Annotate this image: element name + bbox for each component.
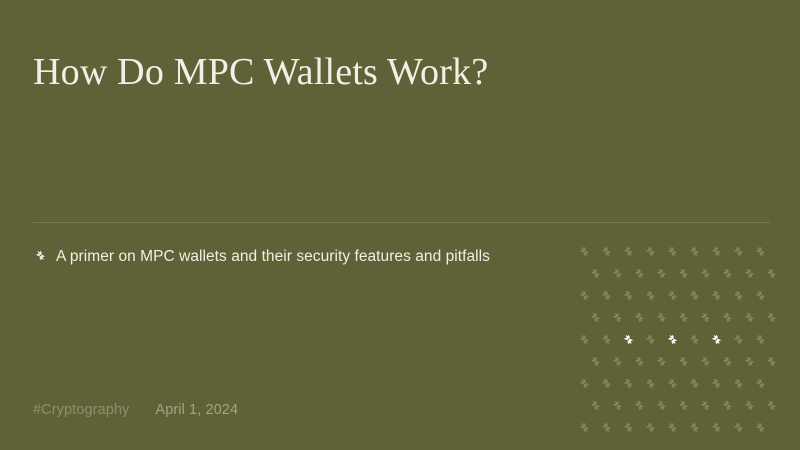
pinwheel-icon — [617, 373, 639, 395]
pinwheel-icon — [738, 307, 760, 329]
pinwheel-icon — [584, 395, 606, 417]
pinwheel-icon — [694, 307, 716, 329]
pinwheel-icon — [595, 329, 617, 351]
pinwheel-icon — [661, 241, 683, 263]
pinwheel-icon — [639, 373, 661, 395]
pinwheel-icon — [595, 417, 617, 439]
pinwheel-icon — [573, 285, 595, 307]
pinwheel-icon — [716, 395, 738, 417]
pinwheel-icon — [683, 285, 705, 307]
pinwheel-icon — [705, 329, 727, 351]
pinwheel-icon — [727, 329, 749, 351]
pinwheel-icon — [738, 263, 760, 285]
pinwheel-icon — [760, 395, 782, 417]
pinwheel-icon — [606, 395, 628, 417]
pinwheel-icon — [661, 373, 683, 395]
subtitle-block: A primer on MPC wallets and their securi… — [33, 245, 503, 268]
pinwheel-icon — [738, 395, 760, 417]
pinwheel-icon — [683, 417, 705, 439]
pinwheel-icon — [661, 417, 683, 439]
footer-date: April 1, 2024 — [155, 401, 238, 420]
pinwheel-icon — [749, 329, 771, 351]
pinwheel-pattern — [573, 241, 778, 423]
pinwheel-icon — [628, 263, 650, 285]
pinwheel-icon — [595, 241, 617, 263]
pinwheel-icon — [727, 285, 749, 307]
pinwheel-icon — [749, 241, 771, 263]
pinwheel-icon — [672, 351, 694, 373]
pinwheel-icon — [639, 329, 661, 351]
pinwheel-icon — [738, 351, 760, 373]
pinwheel-icon — [727, 417, 749, 439]
pinwheel-icon — [716, 263, 738, 285]
pinwheel-icon — [595, 285, 617, 307]
footer-topic-tag: #Cryptography — [33, 401, 129, 420]
pinwheel-icon — [705, 285, 727, 307]
pinwheel-icon — [705, 373, 727, 395]
pinwheel-icon — [760, 307, 782, 329]
pinwheel-icon — [694, 263, 716, 285]
pinwheel-icon — [672, 395, 694, 417]
pinwheel-icon — [727, 373, 749, 395]
pattern-row — [573, 395, 778, 417]
subtitle-text: A primer on MPC wallets and their securi… — [56, 245, 490, 268]
pinwheel-icon — [606, 351, 628, 373]
pinwheel-icon — [705, 241, 727, 263]
pinwheel-icon — [650, 395, 672, 417]
pinwheel-icon — [683, 241, 705, 263]
pinwheel-icon — [584, 307, 606, 329]
pinwheel-icon — [661, 285, 683, 307]
pinwheel-icon — [749, 373, 771, 395]
pinwheel-icon — [672, 263, 694, 285]
pinwheel-icon — [727, 241, 749, 263]
pattern-row — [573, 351, 778, 373]
pinwheel-icon — [595, 373, 617, 395]
slide-canvas: How Do MPC Wallets Work? A primer on MPC… — [0, 0, 800, 450]
pinwheel-icon — [683, 373, 705, 395]
pinwheel-icon — [639, 241, 661, 263]
pinwheel-icon — [672, 307, 694, 329]
pinwheel-icon — [573, 417, 595, 439]
pinwheel-icon — [617, 241, 639, 263]
pattern-row — [573, 263, 778, 285]
pinwheel-icon — [617, 417, 639, 439]
pattern-row — [573, 241, 778, 263]
pinwheel-icon — [716, 307, 738, 329]
pattern-row — [573, 307, 778, 329]
pinwheel-icon — [628, 307, 650, 329]
pinwheel-icon — [661, 329, 683, 351]
pinwheel-icon — [650, 263, 672, 285]
pattern-row — [573, 329, 778, 351]
pinwheel-icon — [705, 417, 727, 439]
pinwheel-icon — [584, 351, 606, 373]
pinwheel-icon — [617, 329, 639, 351]
pinwheel-icon — [573, 329, 595, 351]
pinwheel-icon — [749, 417, 771, 439]
pinwheel-icon — [760, 351, 782, 373]
pinwheel-icon — [584, 263, 606, 285]
divider — [33, 222, 770, 223]
pinwheel-icon — [650, 307, 672, 329]
pattern-row — [573, 285, 778, 307]
footer: #Cryptography April 1, 2024 — [33, 401, 238, 420]
pinwheel-icon — [573, 241, 595, 263]
pinwheel-icon — [650, 351, 672, 373]
pinwheel-icon — [33, 248, 48, 263]
pinwheel-icon — [628, 351, 650, 373]
pinwheel-icon — [606, 263, 628, 285]
pinwheel-icon — [639, 417, 661, 439]
pinwheel-icon — [694, 395, 716, 417]
pinwheel-icon — [606, 307, 628, 329]
pinwheel-icon — [683, 329, 705, 351]
pinwheel-icon — [716, 351, 738, 373]
pattern-row — [573, 373, 778, 395]
pattern-row — [573, 417, 778, 439]
pinwheel-icon — [639, 285, 661, 307]
pinwheel-icon — [573, 373, 595, 395]
page-title: How Do MPC Wallets Work? — [33, 49, 673, 95]
pinwheel-icon — [694, 351, 716, 373]
pinwheel-icon — [628, 395, 650, 417]
pinwheel-icon — [617, 285, 639, 307]
pinwheel-icon — [749, 285, 771, 307]
pinwheel-icon — [760, 263, 782, 285]
